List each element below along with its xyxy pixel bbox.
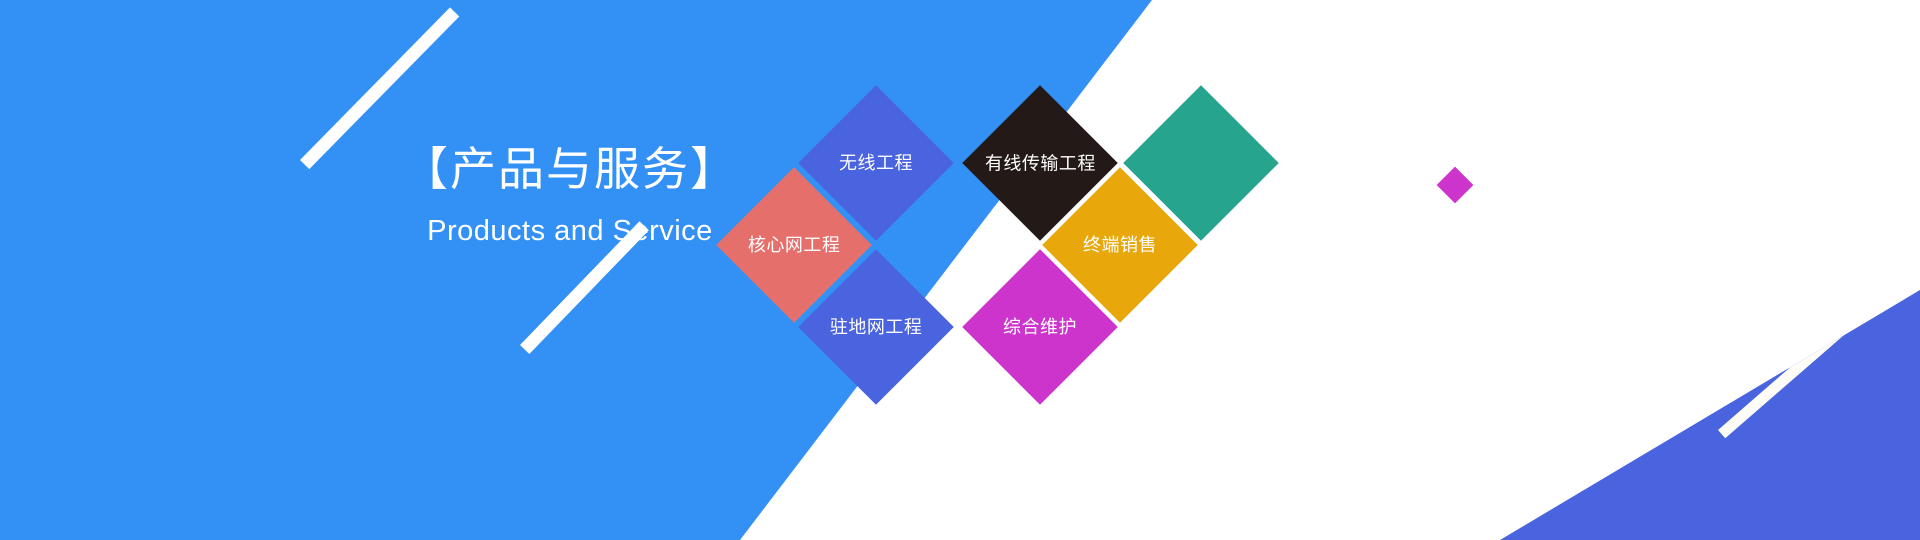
diamond-tile-label: 终端销售 (1083, 234, 1157, 256)
diamond-tile-label: 驻地网工程 (830, 316, 923, 338)
diamond-tile-label: 核心网工程 (748, 234, 841, 256)
products-and-service-banner: 【产品与服务】 Products and Service 无线工程有线传输工程核… (0, 0, 1920, 540)
diamond-tile-grid: 无线工程有线传输工程核心网工程终端销售驻地网工程综合维护 (0, 0, 1920, 540)
diamond-tile-label: 综合维护 (1003, 316, 1077, 338)
diamond-tile-label: 有线传输工程 (985, 152, 1096, 174)
diamond-tile-label: 无线工程 (839, 152, 913, 174)
